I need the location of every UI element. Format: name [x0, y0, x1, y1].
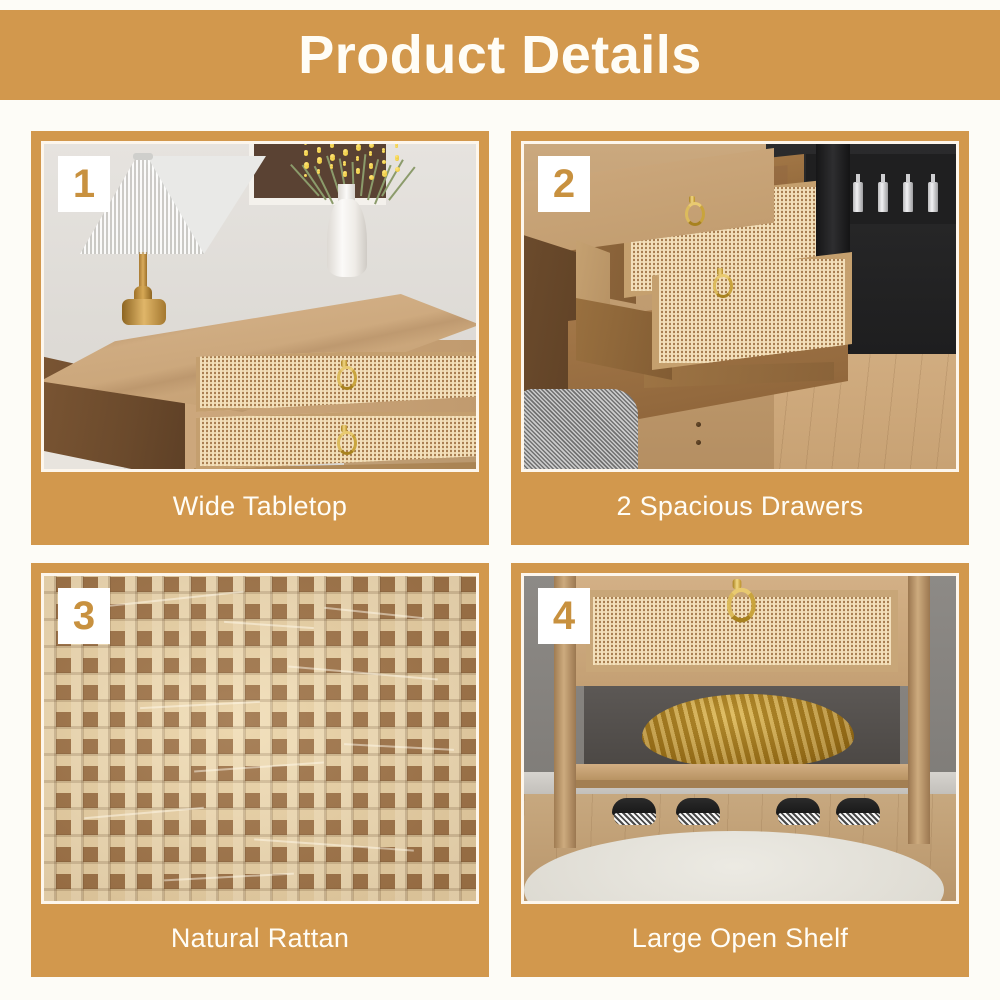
lower-drawer-pull	[336, 425, 352, 451]
card-1-photo: 1	[44, 144, 476, 469]
card-2-caption: 2 Spacious Drawers	[511, 472, 969, 545]
white-vase	[327, 199, 367, 277]
product-details-page: Product Details	[0, 0, 1000, 1000]
gold-ring-pull-icon	[725, 579, 748, 617]
card-3-photo-frame: 3	[41, 573, 479, 904]
gold-ring-pull-icon	[336, 425, 352, 451]
card-2-number-badge: 2	[538, 156, 590, 212]
open-shelf-edge	[570, 780, 914, 788]
card-2-photo-frame: 2	[521, 141, 959, 472]
drawer-pull	[725, 579, 748, 617]
card-1-photo-frame: 1	[41, 141, 479, 472]
feature-card-3[interactable]: 3 Natural Rattan	[31, 563, 489, 977]
gold-ring-pull-icon	[336, 360, 352, 386]
card-1-number: 1	[73, 164, 95, 204]
card-2-photo: 2	[524, 144, 956, 469]
card-3-number-badge: 3	[58, 588, 110, 644]
lower-drawer-pull	[712, 268, 728, 294]
card-4-photo-frame: 4	[521, 573, 959, 904]
feature-card-grid: 1 Wide Tabletop	[31, 131, 969, 977]
upper-drawer-pull	[336, 360, 352, 386]
card-4-number-badge: 4	[538, 588, 590, 644]
fabric-cushion	[524, 389, 638, 469]
feature-card-1[interactable]: 1 Wide Tabletop	[31, 131, 489, 545]
card-3-caption: Natural Rattan	[31, 904, 489, 977]
card-1-caption: Wide Tabletop	[31, 472, 489, 545]
card-2-number: 2	[553, 164, 575, 204]
page-title: Product Details	[298, 28, 702, 82]
gold-ring-pull-icon	[684, 196, 700, 222]
gold-ring-pull-icon	[712, 268, 728, 294]
feature-card-2[interactable]: 2 2 Spacious Drawers	[511, 131, 969, 545]
card-3-number: 3	[73, 596, 95, 636]
rattan-weave	[659, 259, 845, 363]
slippers-row	[524, 798, 956, 840]
lamp-stem	[139, 252, 147, 290]
feature-card-4[interactable]: 4 Large Open Shelf	[511, 563, 969, 977]
header-banner: Product Details	[0, 10, 1000, 100]
card-4-number: 4	[553, 596, 575, 636]
card-4-photo: 4	[524, 576, 956, 901]
lamp-shade-top	[133, 153, 153, 160]
lamp-base	[122, 299, 166, 325]
card-1-number-badge: 1	[58, 156, 110, 212]
upper-drawer-pull	[684, 196, 700, 222]
card-3-photo: 3	[44, 576, 476, 901]
card-4-caption: Large Open Shelf	[511, 904, 969, 977]
